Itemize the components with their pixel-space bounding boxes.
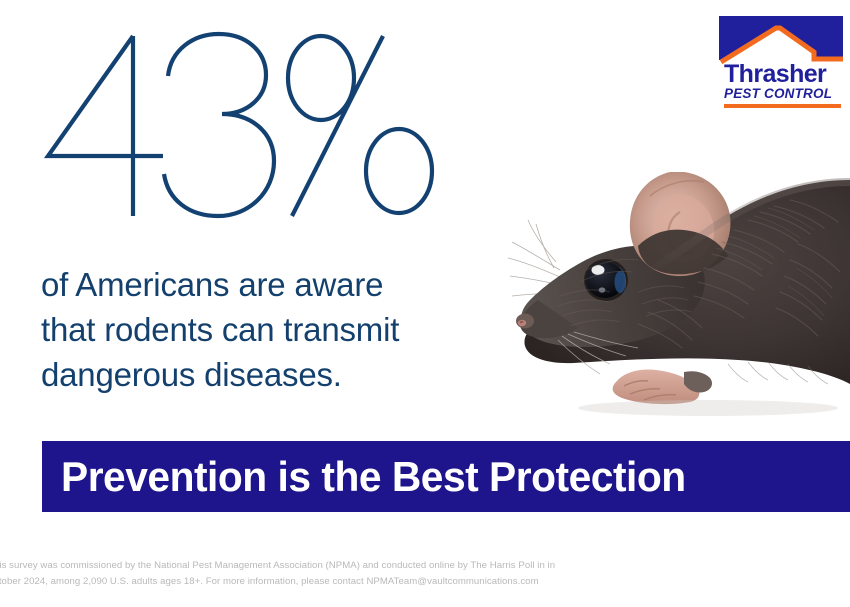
house-roof-icon [719, 16, 843, 64]
stat-percentage-glyphs [38, 28, 448, 223]
infographic-canvas: Thrasher PEST CONTROL of Americans are a… [0, 0, 850, 607]
banner-headline: Prevention is the Best Protection [61, 455, 686, 499]
logo-blue-box [719, 16, 843, 64]
stat-description-line-1: of Americans are aware [41, 262, 511, 307]
stat-description: of Americans are aware that rodents can … [41, 262, 511, 397]
survey-disclaimer-line-1: his survey was commissioned by the Natio… [0, 558, 594, 574]
rat-illustration [498, 150, 850, 422]
stat-percentage [38, 28, 448, 223]
logo-orange-rule [724, 104, 841, 108]
survey-disclaimer-line-2: ctober 2024, among 2,090 U.S. adults age… [0, 574, 594, 590]
stat-description-line-2: that rodents can transmit [41, 307, 511, 352]
logo-wordmark: Thrasher [724, 61, 843, 87]
logo-tagline: PEST CONTROL [724, 87, 843, 101]
rat-eye [584, 259, 628, 301]
survey-disclaimer: his survey was commissioned by the Natio… [0, 558, 594, 590]
thrasher-pest-control-logo: Thrasher PEST CONTROL [719, 16, 843, 110]
stat-description-line-3: dangerous diseases. [41, 352, 511, 397]
prevention-banner: Prevention is the Best Protection [42, 441, 850, 512]
rat-photo [498, 150, 850, 422]
